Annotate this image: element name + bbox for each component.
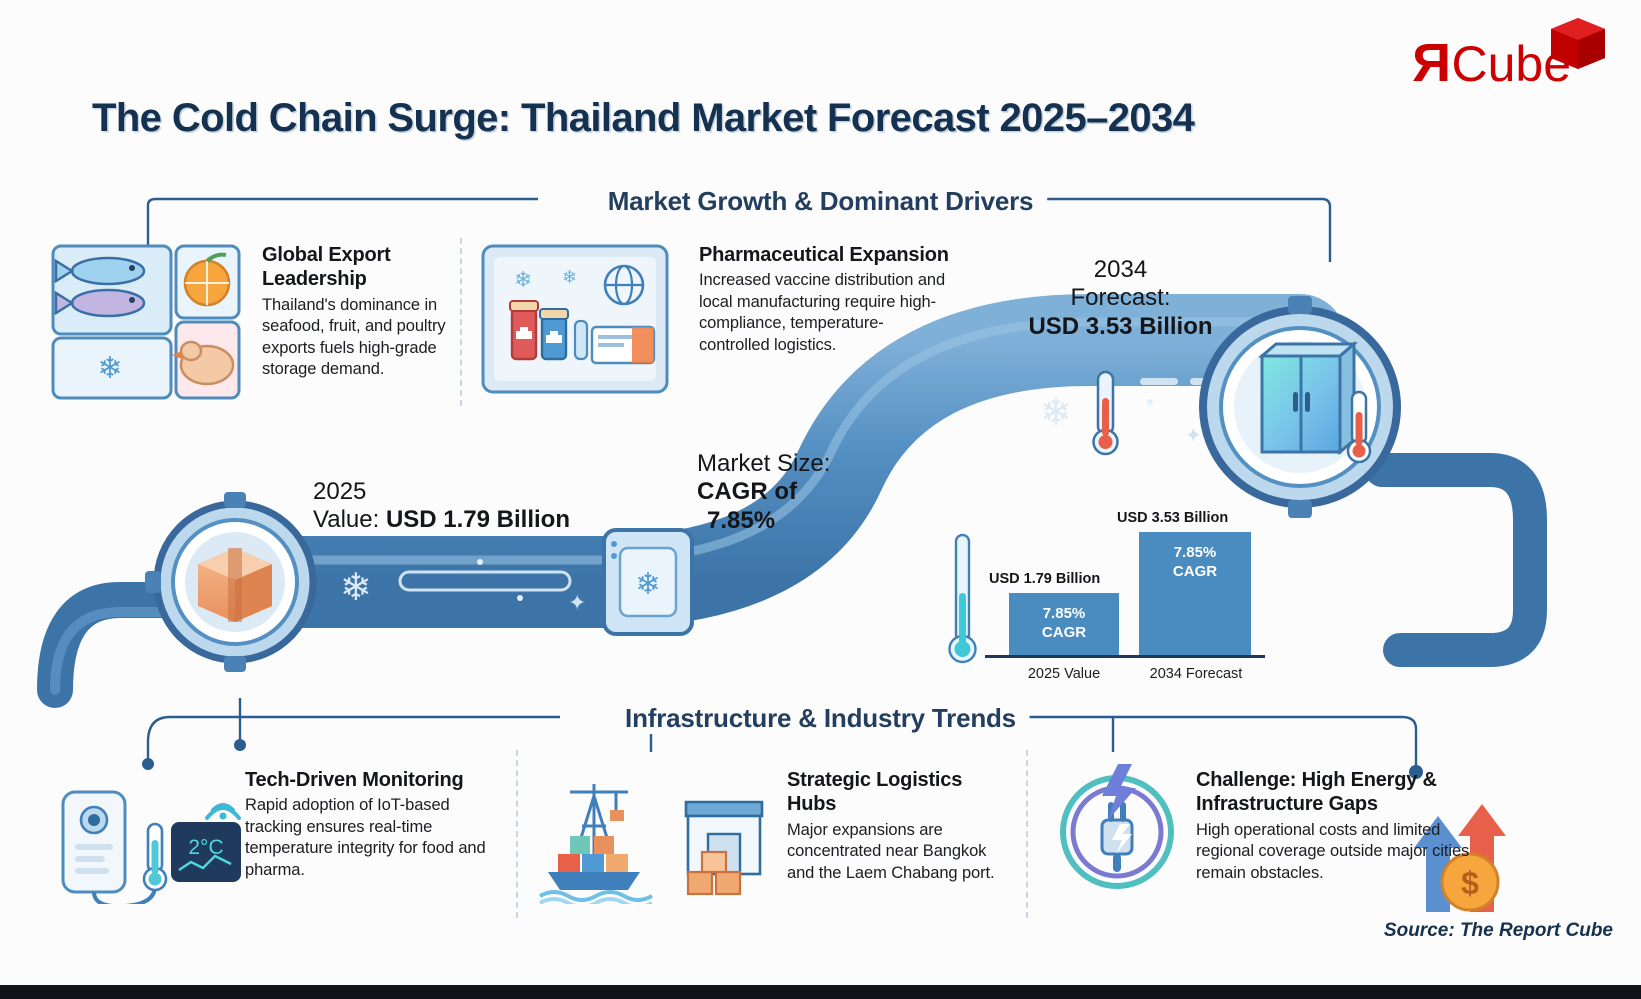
iot-sensor-icon: 2°C — [55, 782, 245, 904]
chart-bar-2025: 7.85% CAGR — [1009, 593, 1119, 655]
card-strategic-logistics-hubs: Strategic Logistics Hubs Major expansion… — [787, 768, 1002, 884]
power-plug-cost-icon — [1052, 762, 1182, 894]
divider-vertical-1 — [460, 238, 462, 406]
card-tech-driven-monitoring: Tech-Driven Monitoring Rapid adoption of… — [245, 768, 500, 881]
card-title: Strategic Logistics Hubs — [787, 768, 1002, 817]
card-global-export-leadership: Global Export Leadership Thailand's domi… — [262, 243, 457, 381]
svg-text:❄: ❄ — [562, 267, 577, 288]
svg-text:❄: ❄ — [1040, 390, 1072, 434]
port-warehouse-icon — [536, 776, 766, 904]
cagr-line-b: 7.85% — [697, 507, 830, 535]
vaccine-vials-icon: ❄ ❄ — [480, 243, 670, 395]
callout-value: USD 1.79 Billion — [386, 506, 570, 533]
card-body: Thailand's dominance in seafood, fruit, … — [262, 295, 457, 381]
section-header-top: Market Growth & Dominant Drivers — [594, 186, 1048, 217]
callout-value: USD 3.53 Billion — [1013, 313, 1228, 341]
chart-bar-value-label-2034: USD 3.53 Billion — [1117, 510, 1228, 526]
cold-storage-unit-icon — [1262, 344, 1354, 452]
card-body: Rapid adoption of IoT-based tracking ens… — [245, 795, 500, 881]
svg-text:❄: ❄ — [340, 565, 372, 609]
callout-market-size-cagr: Market Size: CAGR of 7.85% — [697, 450, 830, 535]
callout-year: 2034 — [1013, 256, 1228, 284]
chart-tick-2025: 2025 Value — [999, 666, 1129, 682]
infographic-canvas: RCube The Cold Chain Surge: Thailand Mar… — [0, 0, 1641, 999]
chart-bar-inner-label-2025: 7.85% CAGR — [1009, 605, 1119, 643]
chart-bar-2034: 7.85% CAGR — [1139, 532, 1251, 655]
chart-bar-value-label-2025: USD 1.79 Billion — [989, 571, 1100, 587]
source-attribution: Source: The Report Cube — [1384, 920, 1613, 942]
chart-tick-2034: 2034 Forecast — [1131, 666, 1261, 682]
divider-vertical-2 — [516, 750, 518, 918]
cagr-label: Market Size: — [697, 450, 830, 478]
svg-text:❄: ❄ — [97, 351, 122, 386]
card-title: Tech-Driven Monitoring — [245, 768, 500, 792]
card-body: Increased vaccine distribution and local… — [699, 270, 949, 356]
svg-text:❄: ❄ — [514, 268, 532, 293]
chart-bar-inner-label-2034: 7.85% CAGR — [1139, 544, 1251, 582]
callout-2025-value: 2025 Value: USD 1.79 Billion — [313, 478, 570, 535]
card-body: High operational costs and limited regio… — [1196, 820, 1486, 884]
market-size-bar-chart: 7.85% CAGR USD 1.79 Billion 7.85% CAGR U… — [945, 505, 1265, 690]
card-energy-infrastructure-gaps: Challenge: High Energy & Infrastructure … — [1196, 768, 1486, 884]
chart-axis-line — [985, 655, 1265, 658]
callout-year: 2025 — [313, 478, 570, 506]
callout-2034-forecast: 2034 Forecast: USD 3.53 Billion — [1013, 256, 1228, 341]
card-title: Challenge: High Energy & Infrastructure … — [1196, 768, 1486, 817]
bottom-bar — [0, 985, 1641, 999]
svg-text:✦: ✦ — [1185, 423, 1202, 447]
card-body: Major expansions are concentrated near B… — [787, 820, 1002, 884]
sensor-reading-text: 2°C — [188, 836, 223, 859]
svg-text:❄: ❄ — [635, 567, 660, 602]
cagr-line-a: CAGR of — [697, 478, 830, 506]
seafood-fruit-poultry-icon: ❄ — [50, 243, 242, 401]
card-title: Global Export Leadership — [262, 243, 457, 292]
divider-vertical-3 — [1026, 750, 1028, 918]
card-pharmaceutical-expansion: Pharmaceutical Expansion Increased vacci… — [699, 243, 949, 356]
svg-text:✦: ✦ — [568, 591, 586, 616]
callout-label: Value: — [313, 506, 379, 533]
section-header-bottom: Infrastructure & Industry Trends — [611, 703, 1030, 734]
card-title: Pharmaceutical Expansion — [699, 243, 949, 267]
callout-label: Forecast: — [1013, 284, 1228, 312]
thermometer-icon — [945, 533, 981, 673]
